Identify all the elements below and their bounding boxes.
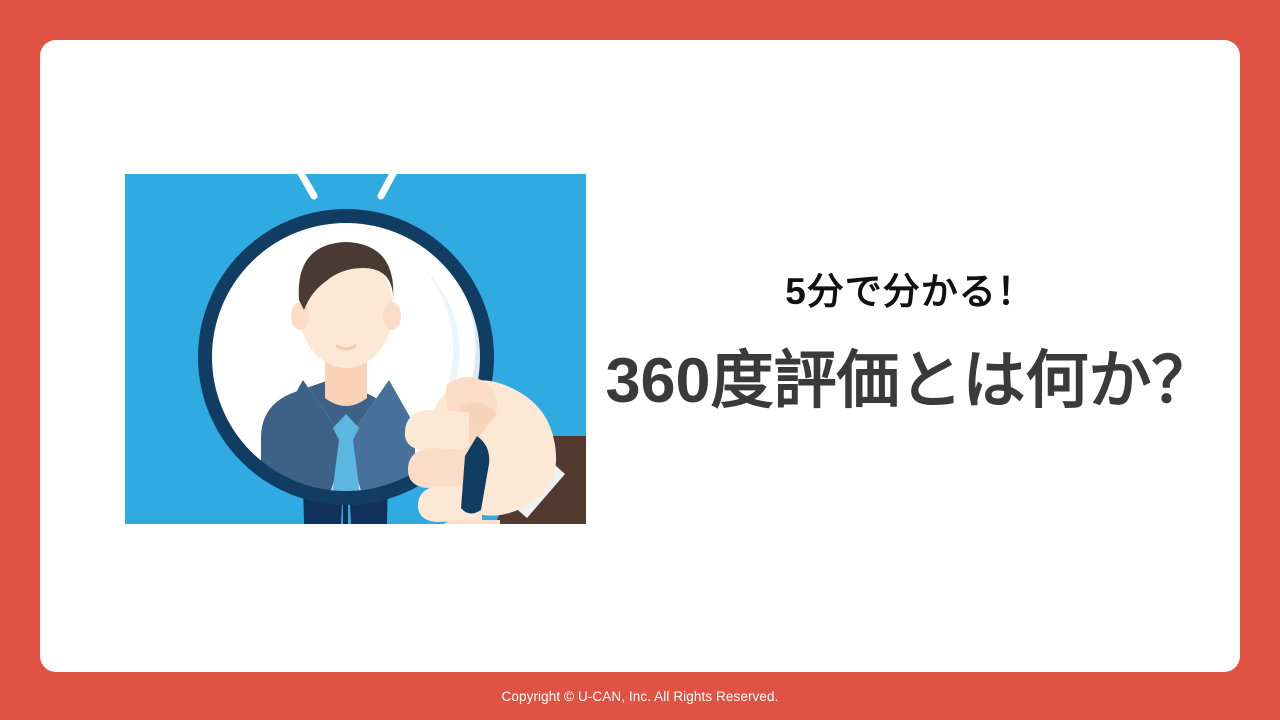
headline-block: 5分で分かる！ 360度評価とは何か？ [600,270,1220,420]
slide-subtitle: 5分で分かる！ [600,270,1220,314]
copyright-text: Copyright © U-CAN, Inc. All Rights Reser… [502,689,779,704]
page-title: 360度評価とは何か？ [600,344,1220,420]
slide-card: 5分で分かる！ 360度評価とは何か？ [40,40,1240,672]
magnifying-glass-illustration [125,174,586,524]
illustration-image [125,174,586,524]
footer-bar: Copyright © U-CAN, Inc. All Rights Reser… [0,672,1280,720]
